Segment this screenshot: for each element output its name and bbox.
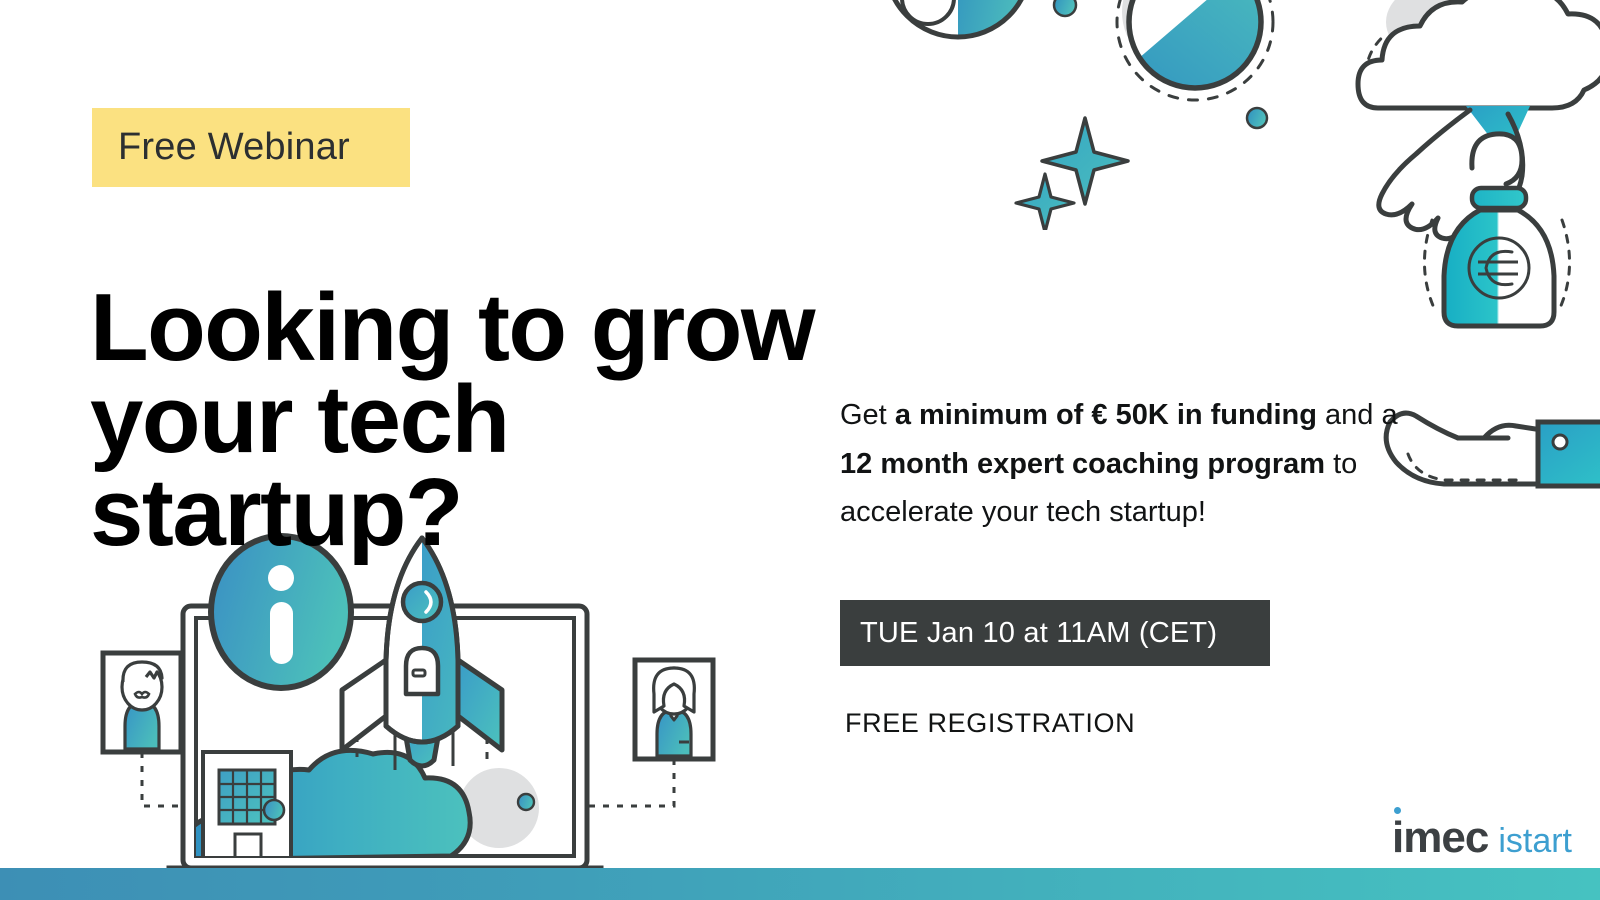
cloud-gray-blob-2-icon xyxy=(459,768,539,848)
sleeve-wedge-icon xyxy=(1466,106,1530,158)
cloud-gradient-icon xyxy=(181,750,470,860)
promo-banner: Free Webinar Looking to grow your tech s… xyxy=(0,0,1600,900)
headline-line-1: Looking to grow xyxy=(90,282,870,374)
date-banner-label: TUE Jan 10 at 11AM (CET) xyxy=(860,617,1217,650)
cloud-gray-blob-icon xyxy=(305,772,393,860)
sparkle-star-small-icon xyxy=(1016,174,1074,230)
dashed-orbit-planet-icon xyxy=(1090,0,1280,128)
free-webinar-badge-label: Free Webinar xyxy=(118,126,350,169)
body-copy: Get a minimum of € 50K in funding and a … xyxy=(840,391,1400,537)
money-bag-icon xyxy=(1444,210,1554,326)
avatar-female-frame xyxy=(578,660,713,806)
date-banner: TUE Jan 10 at 11AM (CET) xyxy=(840,600,1270,666)
avatar-female-icon xyxy=(654,668,695,756)
page-title: Looking to grow your tech startup? xyxy=(90,282,870,558)
headline-line-2: your tech xyxy=(90,374,870,466)
space-illustration xyxy=(880,0,1340,230)
moon-planet-icon xyxy=(886,0,1038,50)
body-segment-4-bold: 12 month expert coaching program xyxy=(840,448,1325,480)
headline-line-3: startup? xyxy=(90,467,870,559)
bottom-gradient-bar xyxy=(0,868,1600,900)
free-registration-link[interactable]: FREE REGISTRATION xyxy=(845,708,1135,739)
dotted-connector-right-icon xyxy=(578,759,674,806)
bag-dashed-arc-right-icon xyxy=(1560,220,1570,308)
office-building-icon xyxy=(203,752,291,864)
avatar-male-frame xyxy=(103,653,291,806)
body-segment-1: Get xyxy=(840,399,895,431)
bag-dashed-arc-left-icon xyxy=(1424,220,1434,308)
teal-dot-screen-icon xyxy=(264,800,284,820)
laptop-illustration xyxy=(95,520,755,880)
rocket-exhaust-lines-icon xyxy=(357,690,487,770)
teal-dot-screen-2-icon xyxy=(518,794,534,810)
laptop-frame-icon xyxy=(183,606,587,868)
body-segment-2-bold: a minimum of € 50K in funding xyxy=(895,399,1317,431)
teal-dot-small-icon xyxy=(1054,0,1076,16)
imec-istart-logo: imec istart xyxy=(1392,816,1572,860)
logo-dot-icon xyxy=(1394,807,1401,814)
cloud-icon xyxy=(1358,0,1600,108)
body-segment-3: and a xyxy=(1317,399,1398,431)
avatar-male-icon xyxy=(122,662,162,749)
logo-imec-text: imec xyxy=(1392,813,1488,862)
dotted-connector-left-icon xyxy=(142,752,291,806)
sparkle-star-large-icon xyxy=(1042,118,1128,204)
open-palm-hand-icon xyxy=(1386,413,1600,486)
gripping-hand-icon xyxy=(1379,110,1496,239)
free-webinar-badge: Free Webinar xyxy=(92,108,410,187)
bag-neck-icon xyxy=(1472,134,1522,184)
logo-imec-wrap: imec xyxy=(1392,816,1488,860)
cloud-dashed-arc-icon xyxy=(1366,34,1386,90)
euro-symbol-icon xyxy=(1469,238,1529,298)
logo-istart-text: istart xyxy=(1498,824,1572,860)
gray-dot-icon xyxy=(268,770,284,786)
bag-cuff-icon xyxy=(1472,188,1526,208)
cloud-shadow-icon xyxy=(1386,0,1518,66)
